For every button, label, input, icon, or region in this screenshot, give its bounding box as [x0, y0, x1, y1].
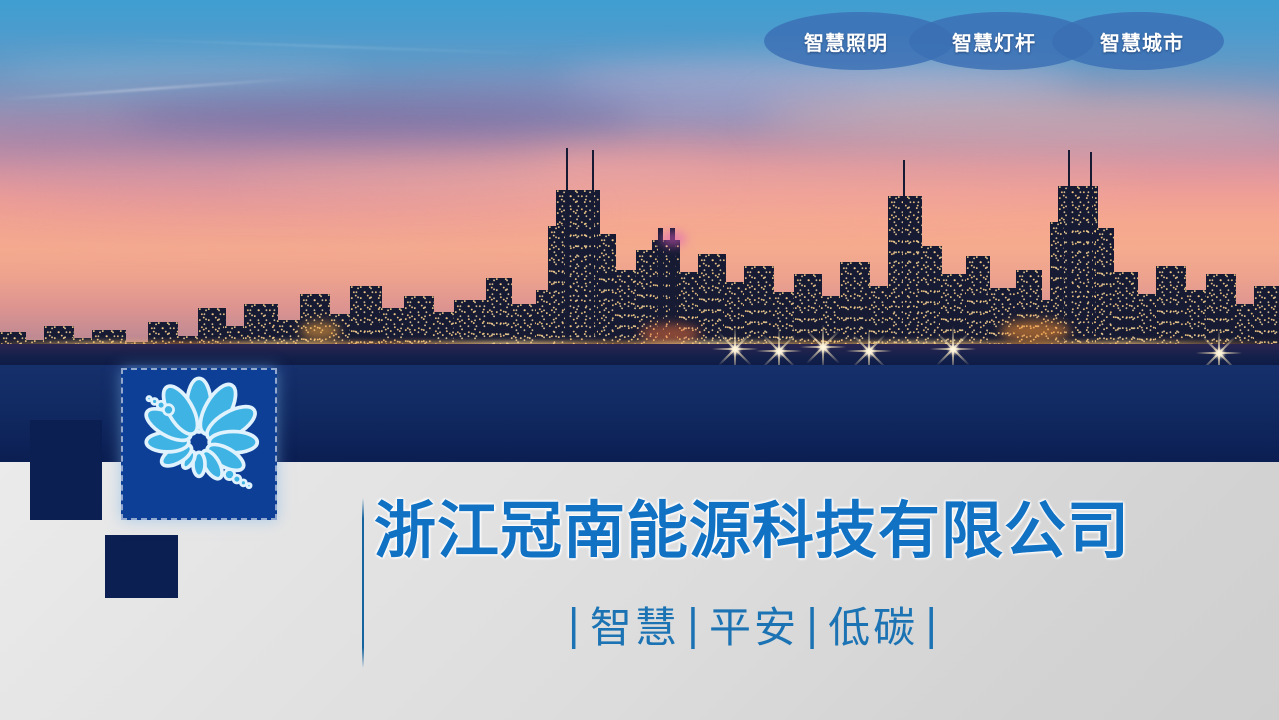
subtitle-separator: |: [924, 600, 941, 649]
top-nav-banner: 智慧照明 智慧灯杆 智慧城市: [764, 12, 1224, 70]
subtitle-separator: |: [567, 600, 584, 649]
petal-emblem-icon: [123, 370, 275, 518]
cloud-wisp: [0, 60, 360, 86]
title-slide: 智慧照明 智慧灯杆 智慧城市: [0, 0, 1279, 720]
decorative-square-upper: [30, 420, 102, 520]
nav-item-smart-city[interactable]: 智慧城市: [1100, 27, 1184, 56]
subtitle-word-3: 低碳: [828, 594, 918, 655]
company-logo: [121, 368, 277, 520]
lake-water: [0, 344, 1279, 366]
subtitle-word-1: 智慧: [590, 594, 680, 655]
subtitle-separator: |: [805, 600, 822, 649]
city-skyline: [0, 136, 1279, 366]
page-subtitle: | 智慧 | 平安 | 低碳 |: [374, 592, 1134, 656]
decorative-square-lower: [105, 535, 178, 598]
title-accent-rule: [362, 498, 364, 668]
nav-item-smart-lighting[interactable]: 智慧照明: [804, 27, 888, 56]
page-title: 浙江冠南能源科技有限公司: [374, 492, 1134, 572]
nav-item-smart-pole[interactable]: 智慧灯杆: [952, 27, 1036, 56]
subtitle-separator: |: [686, 600, 703, 649]
subtitle-word-2: 平安: [709, 594, 799, 655]
